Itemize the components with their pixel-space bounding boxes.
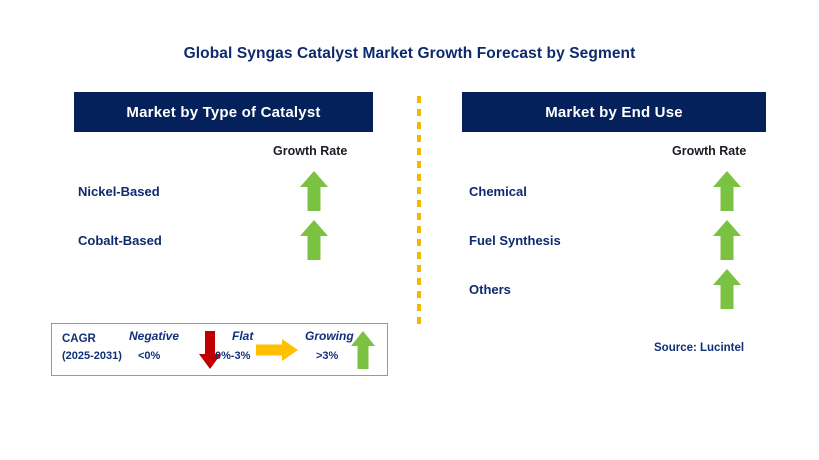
legend-label-flat: Flat: [232, 329, 253, 343]
panel-header-type-of-catalyst: Market by Type of Catalyst: [74, 92, 373, 132]
arrow-right-icon: [255, 338, 299, 362]
arrow-up-icon: [712, 170, 742, 212]
panel-header-label: Market by End Use: [545, 104, 683, 121]
growth-rate-caption-right: Growth Rate: [672, 144, 746, 158]
list-item: Cobalt-Based: [78, 233, 162, 248]
growth-rate-caption-left: Growth Rate: [273, 144, 347, 158]
page-title: Global Syngas Catalyst Market Growth For…: [0, 45, 819, 63]
panel-header-label: Market by Type of Catalyst: [126, 104, 320, 121]
legend-label-negative: Negative: [129, 329, 179, 343]
list-item: Fuel Synthesis: [469, 233, 561, 248]
arrow-up-icon: [712, 268, 742, 310]
arrow-up-icon: [712, 219, 742, 261]
arrow-up-icon: [350, 330, 376, 370]
list-item: Chemical: [469, 184, 527, 199]
list-item: Others: [469, 282, 511, 297]
legend-period: (2025-2031): [62, 348, 122, 364]
list-item: Nickel-Based: [78, 184, 160, 199]
legend-title: CAGR: [62, 331, 96, 347]
cagr-legend: CAGR (2025-2031) Negative <0% Flat 0%-3%…: [51, 323, 388, 376]
source-note: Source: Lucintel: [654, 342, 744, 354]
legend-label-growing: Growing: [305, 329, 354, 343]
infographic-canvas: Global Syngas Catalyst Market Growth For…: [0, 0, 819, 460]
arrow-up-icon: [299, 170, 329, 212]
vertical-dashed-divider: [417, 96, 421, 328]
legend-range-flat: 0%-3%: [215, 350, 250, 362]
legend-range-negative: <0%: [138, 350, 160, 362]
panel-header-end-use: Market by End Use: [462, 92, 766, 132]
arrow-up-icon: [299, 219, 329, 261]
legend-range-growing: >3%: [316, 350, 338, 362]
